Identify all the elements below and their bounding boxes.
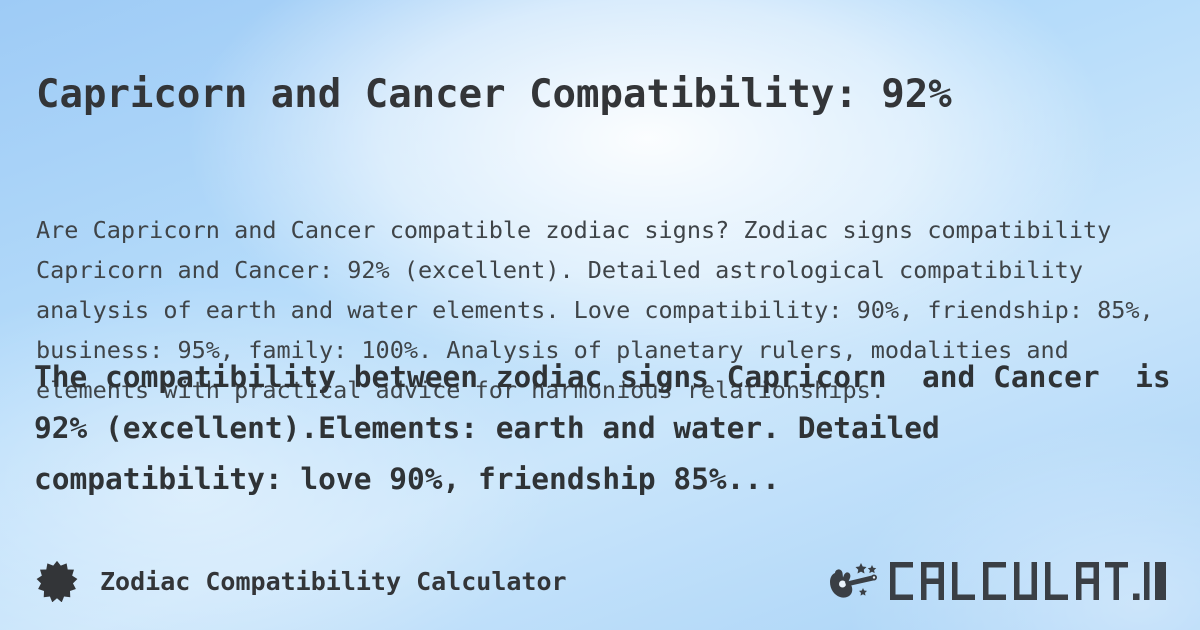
share-card: Capricorn and Cancer Compatibility: 92% … <box>0 0 1200 630</box>
brand-block: Zodiac Compatibility Calculator <box>36 548 567 614</box>
calculatio-wordmark <box>888 558 1168 604</box>
card-footer: Zodiac Compatibility Calculator <box>0 548 1200 614</box>
magic-wand-hand-icon <box>828 558 882 604</box>
starburst-icon <box>36 560 78 602</box>
brand-label: Zodiac Compatibility Calculator <box>100 567 567 596</box>
calculatio-logo[interactable] <box>828 548 1168 614</box>
background-pattern <box>0 0 1200 630</box>
low-poly-triangles <box>0 0 1200 630</box>
